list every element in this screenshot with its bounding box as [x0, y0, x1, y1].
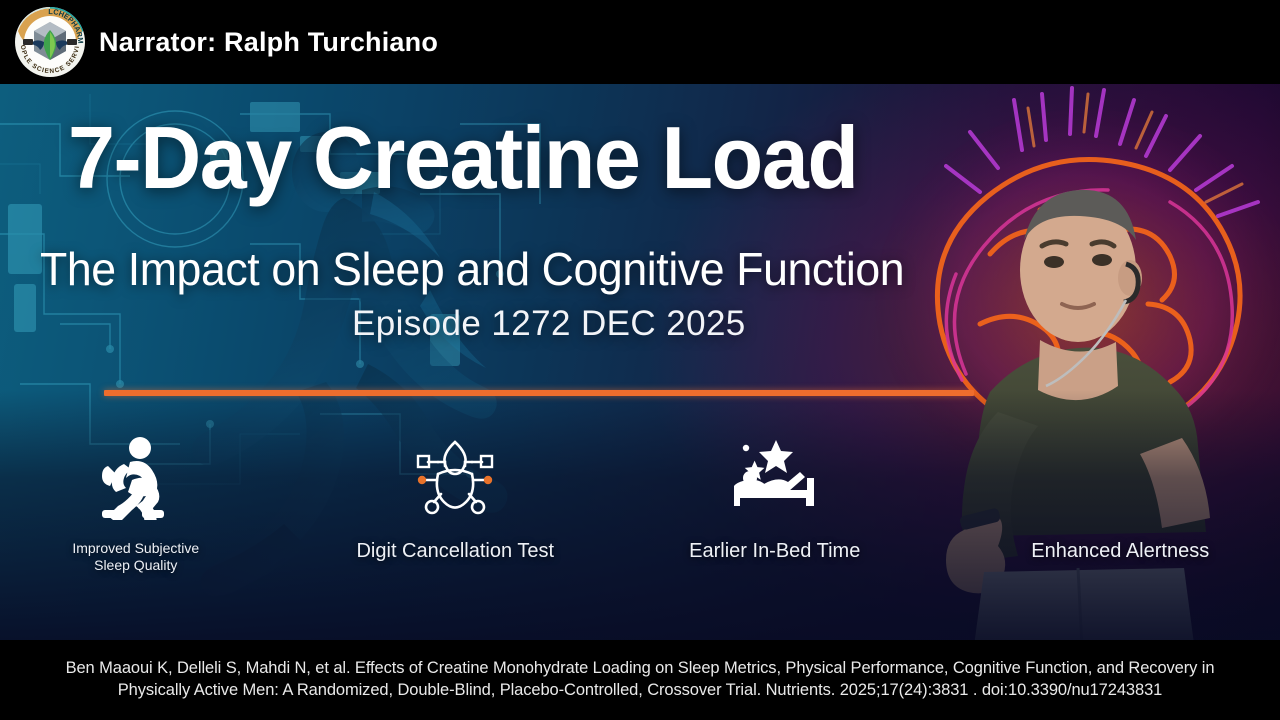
video-title-card: 7-Day Creatine Load The Impact on Sleep …	[0, 0, 1280, 720]
episode-label: Episode 1272 DEC 2025	[352, 304, 746, 344]
brain-node-graph-icon	[412, 424, 498, 520]
feature-label: Improved Subjective Sleep Quality	[72, 540, 199, 573]
running-person-icon	[100, 424, 172, 520]
feature-label: Earlier In-Bed Time	[689, 540, 860, 564]
narrator-label: Narrator: Ralph Turchiano	[99, 27, 438, 58]
header-bar: ALCHEPHARMA PEOPLE SCIENCE SERVICE Narra…	[0, 0, 1280, 84]
person-sleeping-in-bed-icon	[730, 424, 820, 520]
feature-icon-row: Improved Subjective Sleep Quality	[0, 424, 1280, 632]
alchepharma-badge-logo[interactable]: ALCHEPHARMA PEOPLE SCIENCE SERVICE	[14, 6, 86, 78]
page-subtitle: The Impact on Sleep and Cognitive Functi…	[40, 242, 904, 296]
feature-item-digit-cancellation: Digit Cancellation Test	[296, 424, 616, 632]
citation-bar: Ben Maaoui K, Delleli S, Mahdi N, et al.…	[0, 640, 1280, 720]
feature-label: Enhanced Alertness	[1031, 540, 1209, 564]
citation-text: Ben Maaoui K, Delleli S, Mahdi N, et al.…	[50, 658, 1230, 702]
feature-item-in-bed-time: Earlier In-Bed Time	[615, 424, 935, 632]
feature-item-alertness: Enhanced Alertness	[961, 424, 1280, 632]
feature-item-sleep-quality: Improved Subjective Sleep Quality	[0, 424, 296, 632]
accent-divider-rule	[104, 390, 974, 396]
feature-label: Digit Cancellation Test	[356, 540, 554, 564]
page-title: 7-Day Creatine Load	[68, 112, 858, 204]
